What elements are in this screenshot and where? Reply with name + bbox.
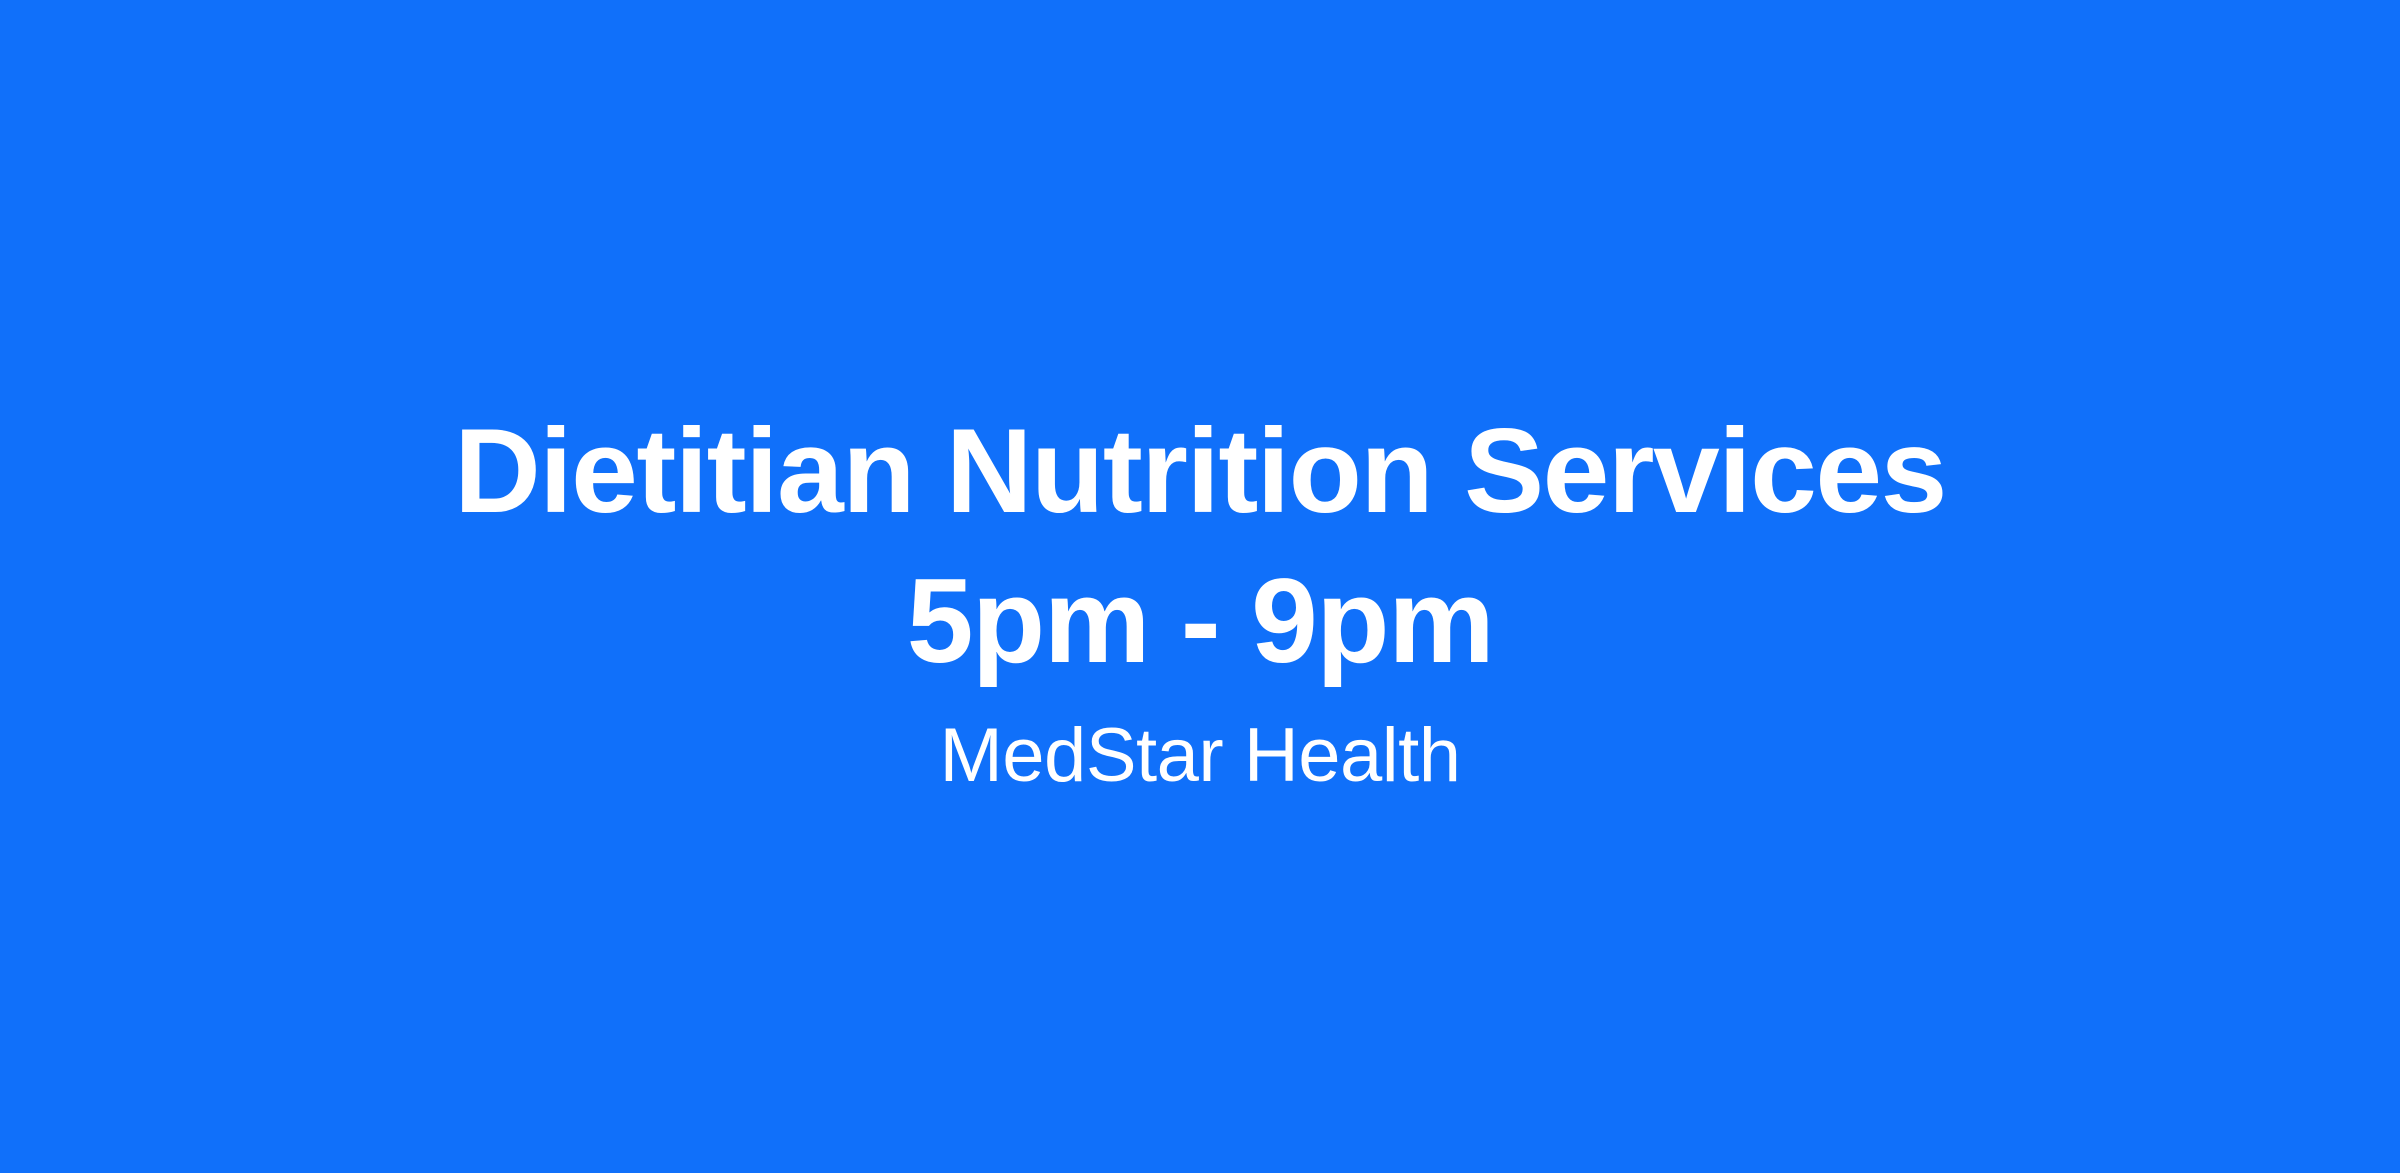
slide-canvas: Dietitian Nutrition Services 5pm - 9pm M… <box>0 0 2400 1173</box>
slide-subtitle: MedStar Health <box>0 710 2400 802</box>
slide-content-block: Dietitian Nutrition Services 5pm - 9pm M… <box>0 396 2400 802</box>
slide-headline: Dietitian Nutrition Services 5pm - 9pm <box>0 396 2400 696</box>
slide-headline-line-2: 5pm - 9pm <box>0 546 2400 696</box>
slide-headline-line-1: Dietitian Nutrition Services <box>0 396 2400 546</box>
